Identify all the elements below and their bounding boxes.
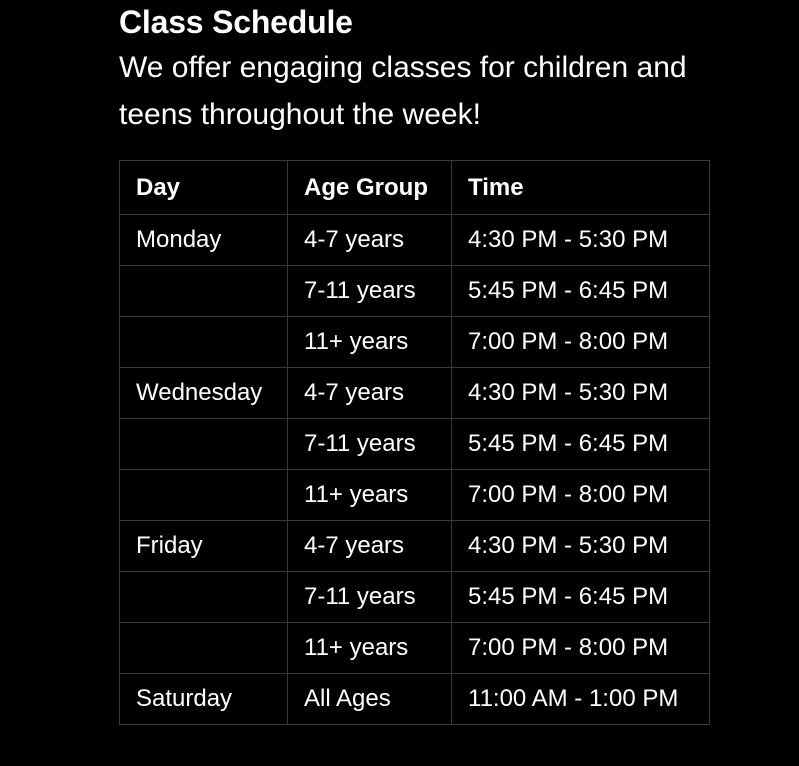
cell-age-group: 11+ years xyxy=(288,623,452,674)
cell-day: Monday xyxy=(120,215,288,266)
class-schedule-table: Day Age Group Time Monday4-7 years4:30 P… xyxy=(119,160,710,725)
table-row: 7-11 years5:45 PM - 6:45 PM xyxy=(120,266,710,317)
table-row: Wednesday4-7 years4:30 PM - 5:30 PM xyxy=(120,368,710,419)
table-row: SaturdayAll Ages11:00 AM - 1:00 PM xyxy=(120,674,710,725)
table-header-row: Day Age Group Time xyxy=(120,161,710,215)
cell-age-group: 7-11 years xyxy=(288,572,452,623)
cell-time: 7:00 PM - 8:00 PM xyxy=(452,317,710,368)
table-row: Monday4-7 years4:30 PM - 5:30 PM xyxy=(120,215,710,266)
table-row: Friday4-7 years4:30 PM - 5:30 PM xyxy=(120,521,710,572)
cell-time: 11:00 AM - 1:00 PM xyxy=(452,674,710,725)
cell-day: Friday xyxy=(120,521,288,572)
table-header: Day Age Group Time xyxy=(120,161,710,215)
column-header-time: Time xyxy=(452,161,710,215)
cell-time: 4:30 PM - 5:30 PM xyxy=(452,521,710,572)
cell-age-group: 11+ years xyxy=(288,470,452,521)
cell-time: 5:45 PM - 6:45 PM xyxy=(452,572,710,623)
table-row: 11+ years7:00 PM - 8:00 PM xyxy=(120,623,710,674)
page-title: Class Schedule xyxy=(119,0,759,44)
cell-time: 7:00 PM - 8:00 PM xyxy=(452,623,710,674)
cell-day xyxy=(120,266,288,317)
cell-time: 4:30 PM - 5:30 PM xyxy=(452,215,710,266)
cell-day: Saturday xyxy=(120,674,288,725)
column-header-day: Day xyxy=(120,161,288,215)
cell-time: 5:45 PM - 6:45 PM xyxy=(452,419,710,470)
cell-age-group: All Ages xyxy=(288,674,452,725)
cell-age-group: 7-11 years xyxy=(288,266,452,317)
cell-day xyxy=(120,572,288,623)
page-intro: Class Schedule We offer engaging classes… xyxy=(119,0,759,138)
table-row: 11+ years7:00 PM - 8:00 PM xyxy=(120,470,710,521)
schedule-table-container: Day Age Group Time Monday4-7 years4:30 P… xyxy=(119,160,709,725)
cell-age-group: 4-7 years xyxy=(288,368,452,419)
table-row: 7-11 years5:45 PM - 6:45 PM xyxy=(120,572,710,623)
cell-day xyxy=(120,317,288,368)
page-subtitle: We offer engaging classes for children a… xyxy=(119,44,739,138)
table-row: 11+ years7:00 PM - 8:00 PM xyxy=(120,317,710,368)
cell-day xyxy=(120,623,288,674)
table-body: Monday4-7 years4:30 PM - 5:30 PM7-11 yea… xyxy=(120,215,710,725)
cell-day: Wednesday xyxy=(120,368,288,419)
table-row: 7-11 years5:45 PM - 6:45 PM xyxy=(120,419,710,470)
column-header-age-group: Age Group xyxy=(288,161,452,215)
cell-age-group: 4-7 years xyxy=(288,521,452,572)
cell-day xyxy=(120,470,288,521)
cell-time: 4:30 PM - 5:30 PM xyxy=(452,368,710,419)
cell-age-group: 11+ years xyxy=(288,317,452,368)
cell-age-group: 7-11 years xyxy=(288,419,452,470)
cell-time: 5:45 PM - 6:45 PM xyxy=(452,266,710,317)
cell-age-group: 4-7 years xyxy=(288,215,452,266)
class-schedule-page: Class Schedule We offer engaging classes… xyxy=(0,0,799,766)
cell-day xyxy=(120,419,288,470)
cell-time: 7:00 PM - 8:00 PM xyxy=(452,470,710,521)
